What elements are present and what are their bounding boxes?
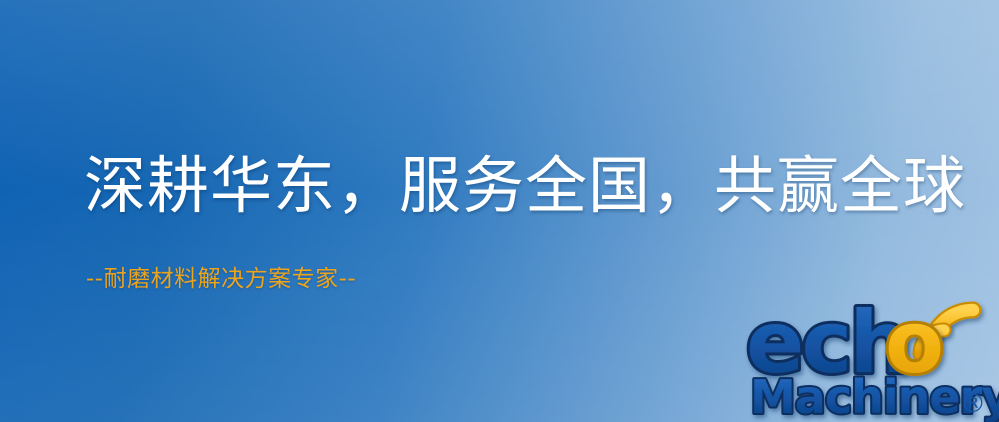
company-logo: ech ech o o Machinery Machinery ®: [744, 296, 999, 422]
registered-trademark-icon: ®: [960, 389, 986, 419]
banner-headline: 深耕华东，服务全国，共赢全球: [84, 152, 966, 220]
promo-banner: 深耕华东，服务全国，共赢全球 --耐磨材料解决方案专家--: [0, 0, 999, 422]
banner-subtitle: --耐磨材料解决方案专家--: [86, 266, 356, 294]
